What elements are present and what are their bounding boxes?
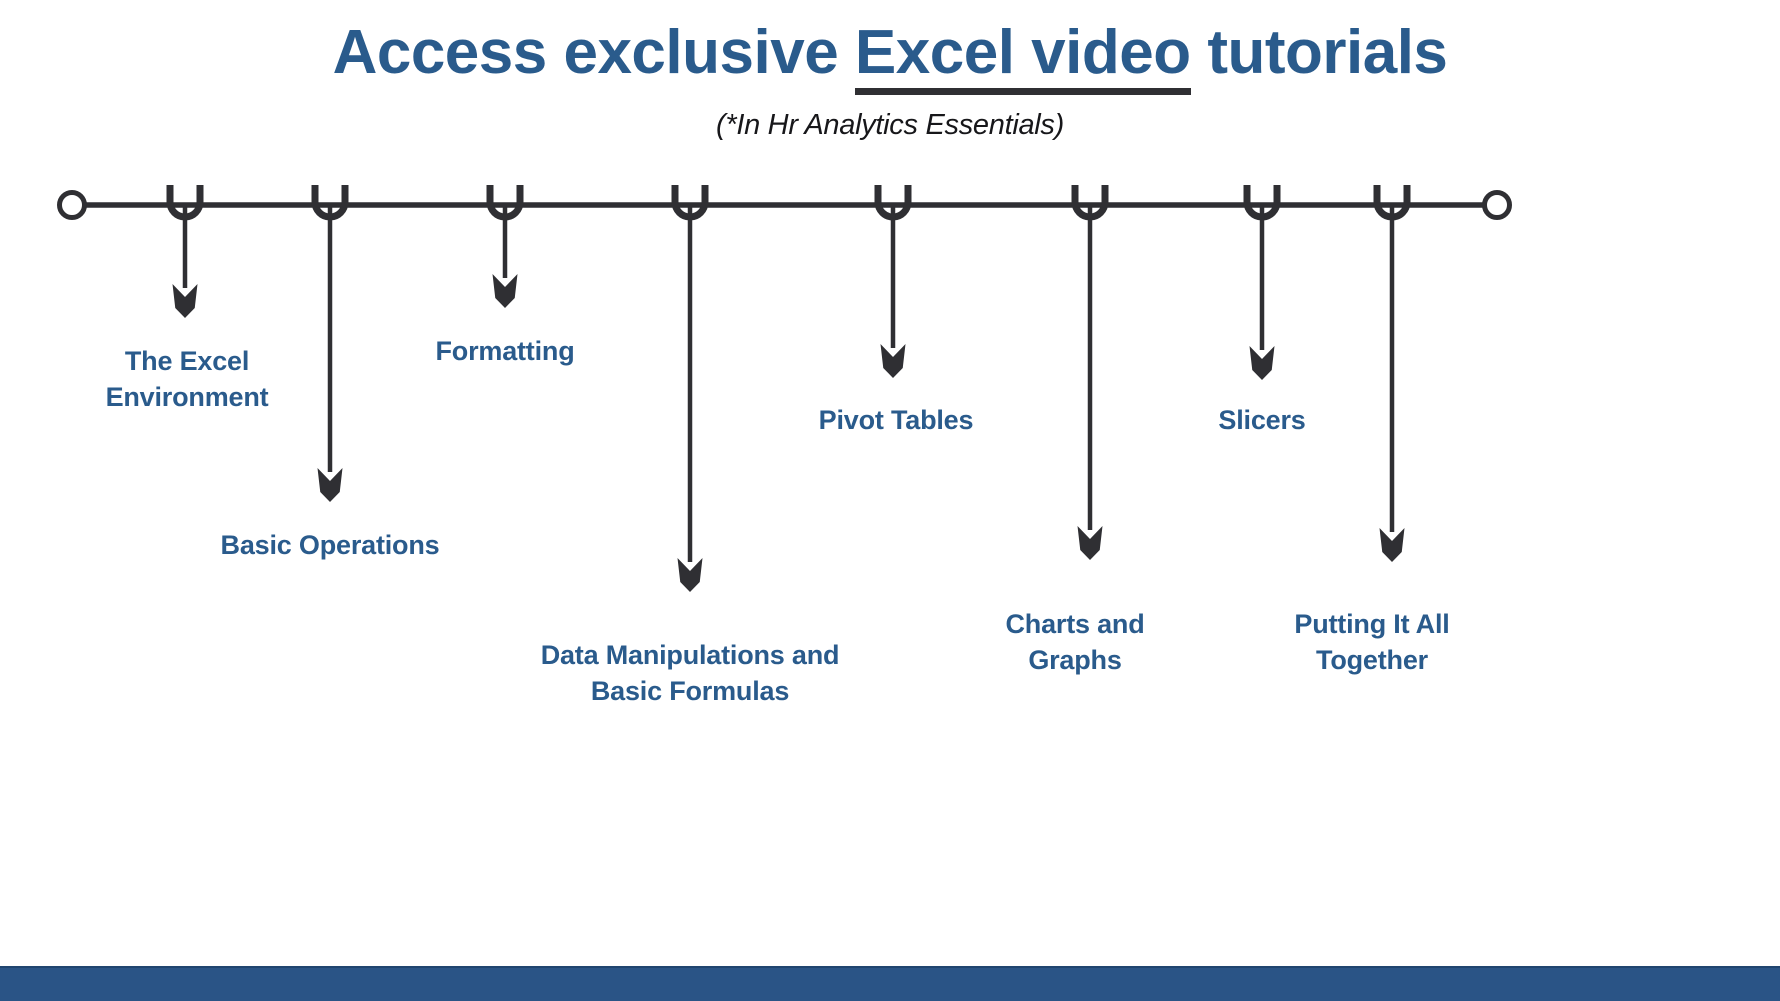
- hook-icon: [675, 185, 705, 217]
- timeline-end-circle: [1485, 193, 1510, 218]
- hook-icon: [1377, 185, 1407, 217]
- timeline-label-basic-operations: Basic Operations: [221, 528, 440, 564]
- arrowhead-icon: [881, 344, 906, 378]
- timeline-node-data-manipulations: [675, 185, 705, 592]
- hook-icon: [490, 185, 520, 217]
- arrowhead-icon: [173, 284, 198, 318]
- timeline-node-charts-and-graphs: [1075, 185, 1105, 560]
- timeline-node-pivot-tables: [878, 185, 908, 378]
- footer-accent-bar: [0, 966, 1780, 1001]
- timeline-start-circle: [60, 193, 85, 218]
- arrowhead-icon: [1078, 526, 1103, 560]
- title-highlight-excel-video: Excel video: [855, 20, 1191, 89]
- arrowhead-icon: [1380, 528, 1405, 562]
- arrowhead-icon: [1250, 346, 1275, 380]
- arrowhead-icon: [493, 274, 518, 308]
- timeline-node-the-excel-environment: [170, 185, 200, 318]
- header: Access exclusive Excel video tutorials (…: [0, 0, 1780, 142]
- timeline-label-data-manipulations: Data Manipulations and Basic Formulas: [541, 638, 840, 710]
- hook-icon: [878, 185, 908, 217]
- timeline-label-pivot-tables: Pivot Tables: [819, 403, 974, 439]
- timeline-label-formatting: Formatting: [436, 334, 575, 370]
- timeline-diagram: [0, 0, 1780, 1001]
- title-part-2: tutorials: [1191, 18, 1448, 87]
- hook-icon: [1247, 185, 1277, 217]
- hook-icon: [170, 185, 200, 217]
- timeline-node-putting-it-all-together: [1377, 185, 1407, 562]
- arrowhead-icon: [318, 468, 343, 502]
- timeline-label-charts-and-graphs: Charts and Graphs: [1005, 607, 1144, 679]
- timeline-label-slicers: Slicers: [1218, 403, 1305, 439]
- timeline-node-slicers: [1247, 185, 1277, 380]
- page-title: Access exclusive Excel video tutorials: [0, 0, 1780, 89]
- timeline-label-the-excel-environment: The Excel Environment: [106, 344, 269, 416]
- hook-icon: [315, 185, 345, 217]
- hook-icon: [1075, 185, 1105, 217]
- page-subtitle: (*In Hr Analytics Essentials): [0, 89, 1780, 142]
- timeline-node-basic-operations: [315, 185, 345, 502]
- title-part-1: Access exclusive: [333, 18, 855, 87]
- timeline-node-formatting: [490, 185, 520, 308]
- timeline-label-putting-it-all-together: Putting It All Together: [1294, 607, 1449, 679]
- arrowhead-icon: [678, 558, 703, 592]
